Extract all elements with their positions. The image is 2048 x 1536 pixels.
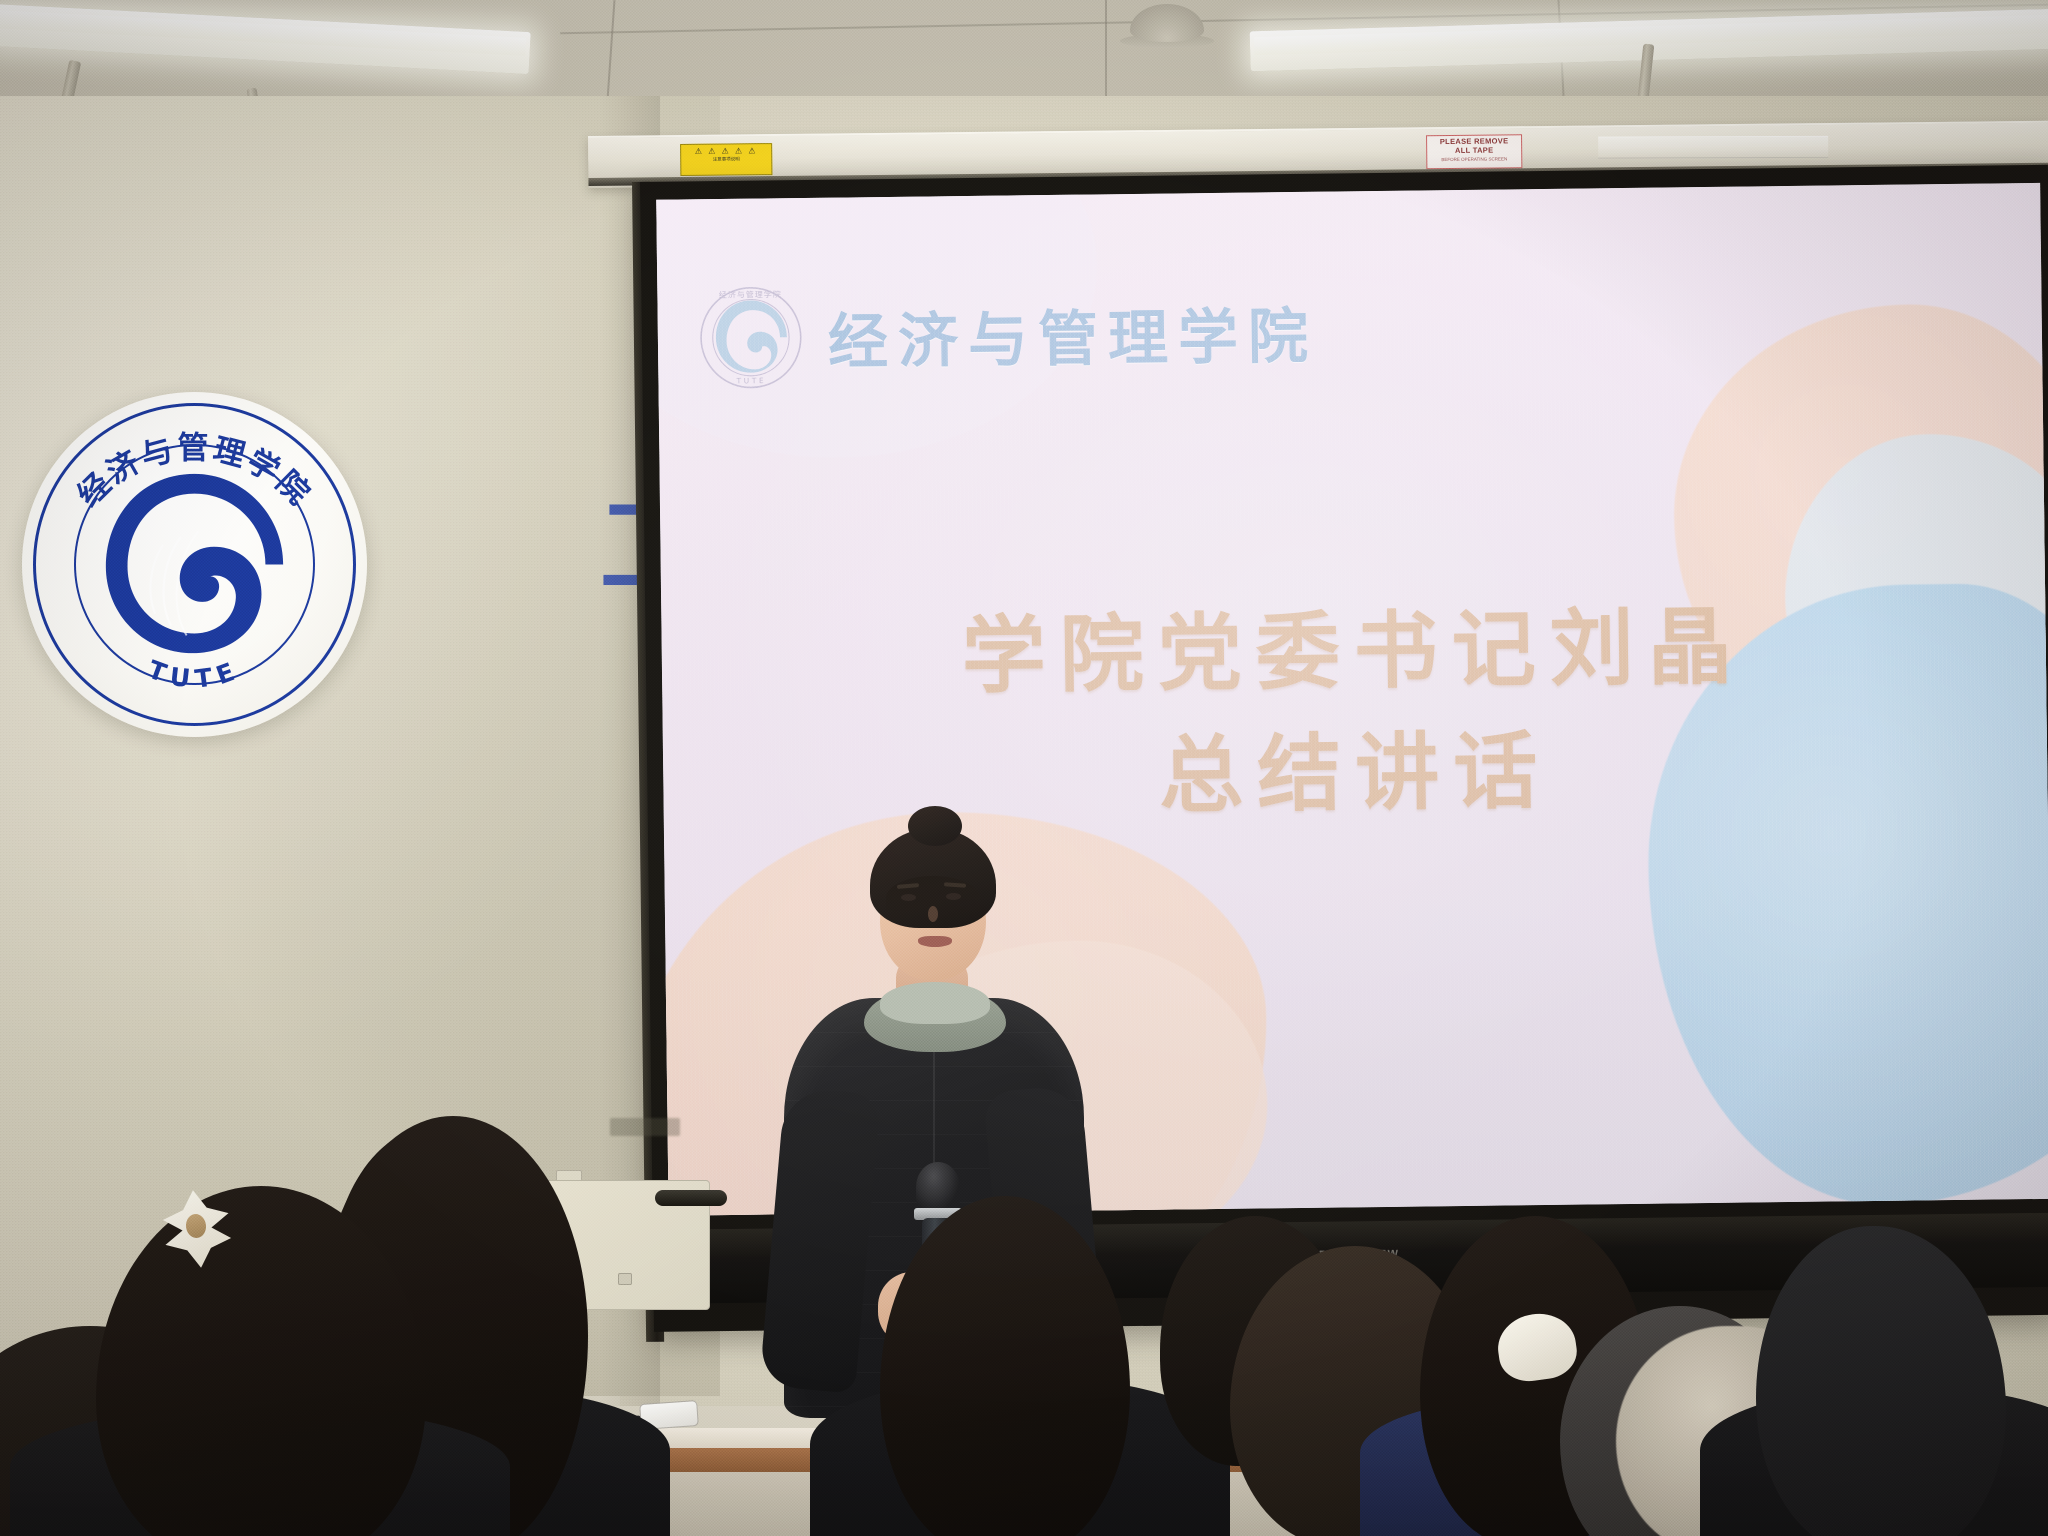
microphone-head [916,1162,960,1212]
remove-tape-line2: ALL TAPE [1430,146,1518,156]
slide-title-line-1: 学院党委书记刘晶 [661,583,2046,722]
warning-label-text: 注意事项说明 [684,156,768,162]
slide-header: 经济与管理学院 TUTE 经济与管理学院 [697,278,1318,392]
wall-socket[interactable] [618,1273,632,1285]
warning-icons: ⚠ ⚠ ⚠ ⚠ ⚠ [684,146,768,156]
presenter-hair-bun [908,806,962,846]
slide-header-title: 经济与管理学院 [827,287,1318,380]
tape-strip [1598,136,1828,159]
remove-tape-line3: BEFORE OPERATING SCREEN [1430,157,1518,163]
presenter-eye-right [946,893,961,900]
presenter-inner-collar [880,982,990,1024]
wave-logo-icon [96,466,293,663]
presenter-eye-left [901,894,916,901]
school-crest: 经济与管理学院 TUTE [22,392,367,737]
presenter-mouth [918,936,952,947]
remove-tape-label: PLEASE REMOVE ALL TAPE BEFORE OPERATING … [1426,134,1522,169]
lecture-room-photo: 经济与管理学院 TUTE 卫 ⚠ ⚠ ⚠ ⚠ ⚠ 注意事项说明 PLEASE R… [0,0,2048,1536]
screen-pull-handle[interactable] [655,1190,727,1206]
slide-logo-arc-text: 经济与管理学院 [719,289,782,300]
wall-scuff [610,1118,680,1136]
warning-label-yellow: ⚠ ⚠ ⚠ ⚠ ⚠ 注意事项说明 [680,143,772,176]
presenter-nose [928,906,938,922]
ceiling-tile-seam [607,0,616,100]
slide-logo-latin-text: TUTE [736,376,767,385]
ceiling-tile-seam [1105,0,1107,100]
slide-wave-logo-icon: 经济与管理学院 TUTE [697,284,804,391]
